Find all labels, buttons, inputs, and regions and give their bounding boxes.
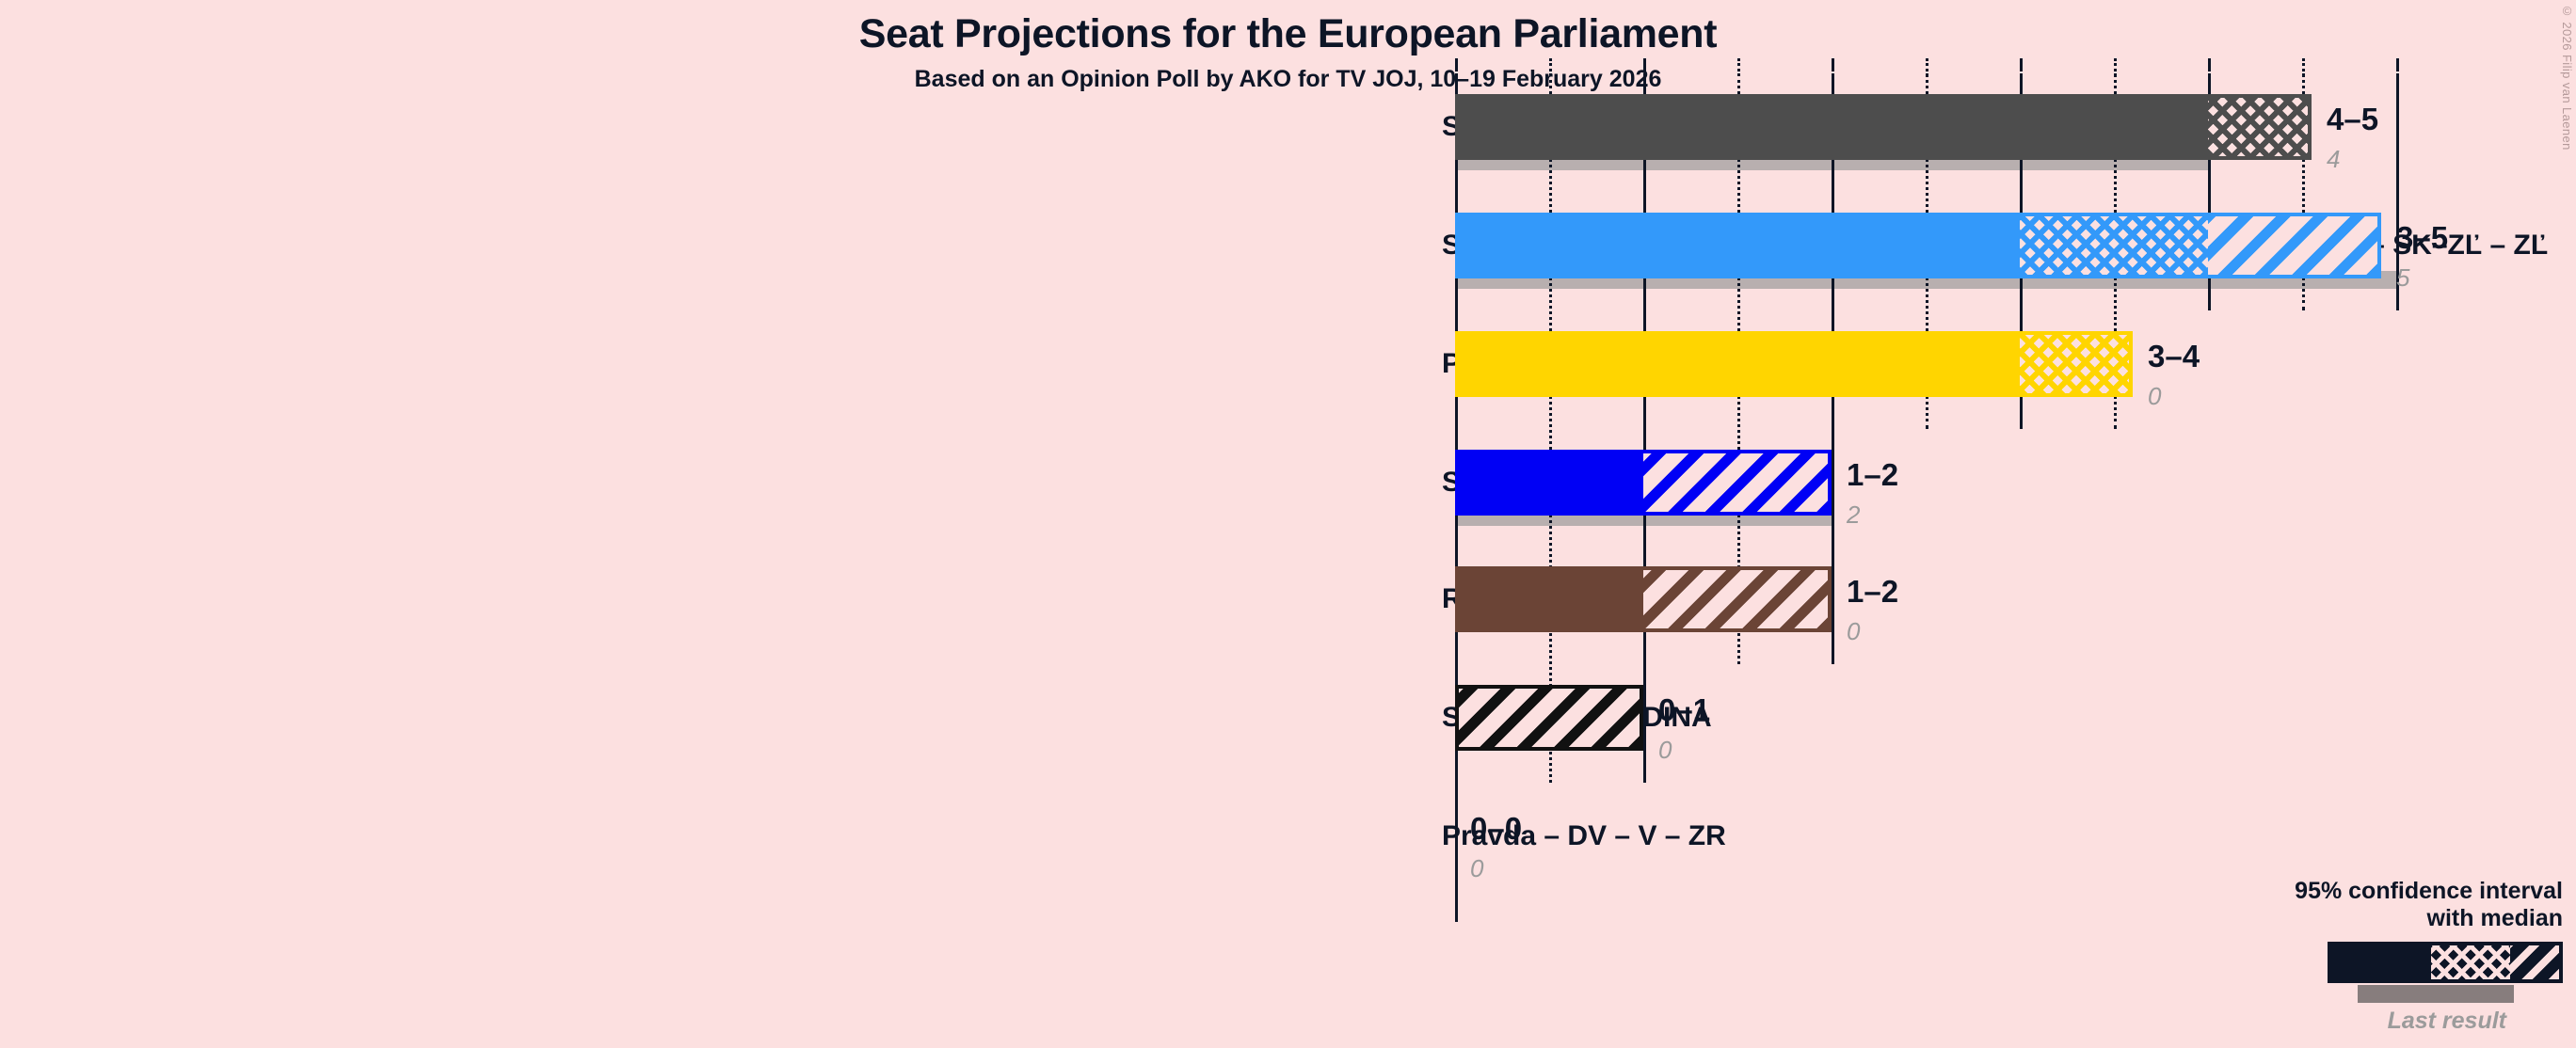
legend-swatches xyxy=(2168,942,2563,983)
legend-title: 95% confidence interval with median xyxy=(2168,878,2563,932)
last-result-value-label: 2 xyxy=(1847,502,1860,527)
confidence-interval-bar xyxy=(1455,685,1643,751)
diagonal-segment xyxy=(1643,570,1832,628)
legend-diagonal-segment xyxy=(2510,945,2559,979)
range-value-label: 0–1 xyxy=(1658,694,1710,725)
range-value-label: 0–0 xyxy=(1470,813,1522,844)
diagonal-segment xyxy=(2208,216,2381,275)
copyright-notice: © 2026 Filip van Laenen xyxy=(2560,4,2574,151)
median-segment xyxy=(1459,335,2020,393)
bar-row: SK – KDH – D – MS – MODRÍ – MODRÍ–MOST–H… xyxy=(1455,213,2490,310)
median-segment xyxy=(1459,453,1643,512)
last-result-value-label: 0 xyxy=(2148,384,2161,408)
crosshatch-segment xyxy=(2020,335,2133,393)
legend-last-result-bar xyxy=(2358,985,2514,1003)
diagonal-segment xyxy=(1643,453,1832,512)
last-result-value-label: 0 xyxy=(1658,738,1672,762)
range-value-label: 3–5 xyxy=(2396,222,2448,253)
diagonal-segment xyxy=(1455,689,1643,747)
bar-row: SaS – KÚ – NOVA1–22 xyxy=(1455,450,2490,548)
legend-title-line1: 95% confidence interval xyxy=(2168,878,2563,905)
page-title: Seat Projections for the European Parlia… xyxy=(0,13,2576,56)
confidence-interval-bar xyxy=(1455,331,2133,397)
legend-crosshatch-segment xyxy=(2431,945,2510,979)
legend: 95% confidence interval with median Last… xyxy=(2168,878,2563,1035)
crosshatch-segment xyxy=(2020,216,2208,275)
confidence-interval-bar xyxy=(1455,94,2312,160)
bar-row: PS3–40 xyxy=(1455,331,2490,429)
confidence-interval-bar xyxy=(1455,450,1832,516)
last-result-value-label: 4 xyxy=(2327,147,2340,171)
median-segment xyxy=(1459,570,1643,628)
median-segment xyxy=(1459,216,2020,275)
last-result-value-label: 0 xyxy=(1847,619,1860,643)
range-value-label: 1–2 xyxy=(1847,459,1898,490)
range-value-label: 1–2 xyxy=(1847,576,1898,607)
range-value-label: 4–5 xyxy=(2327,103,2378,135)
legend-ci-bar xyxy=(2328,942,2563,983)
bar-row: REP1–20 xyxy=(1455,566,2490,664)
range-value-label: 3–4 xyxy=(2148,341,2200,372)
legend-last-result-label: Last result xyxy=(2168,1008,2563,1035)
bar-row: SNS – SME RODINA0–10 xyxy=(1455,685,2490,783)
chart-root: Seat Projections for the European Parlia… xyxy=(0,0,2576,1048)
median-segment xyxy=(1459,98,2208,156)
legend-title-line2: with median xyxy=(2168,905,2563,932)
confidence-interval-bar xyxy=(1455,213,2381,278)
confidence-interval-bar xyxy=(1455,566,1832,632)
crosshatch-segment xyxy=(2208,98,2312,156)
last-result-value-label: 5 xyxy=(2396,265,2409,290)
last-result-value-label: 0 xyxy=(1470,856,1483,881)
bar-row: Smer–SD – HLAS–SD – HLAS–SD–DV – Kotleba… xyxy=(1455,94,2490,192)
